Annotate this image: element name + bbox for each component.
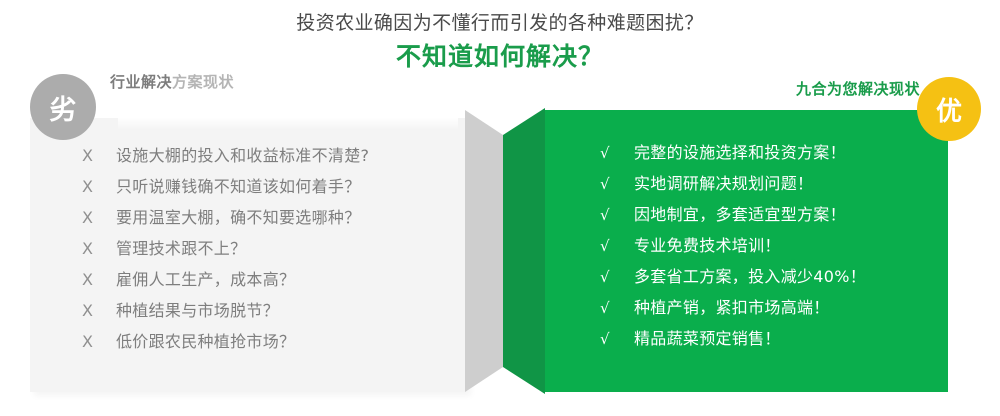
check-icon: √ (600, 175, 634, 193)
badge-inferior: 劣 (30, 74, 96, 140)
cross-icon: X (82, 239, 116, 258)
headline-question: 投资农业确因为不懂行而引发的各种难题困扰？ (0, 0, 1000, 37)
list-item-label: 管理技术跟不上？ (116, 235, 246, 259)
list-item-label: 只听说赚钱确不知道该如何着手？ (116, 173, 361, 197)
cross-icon: X (82, 332, 116, 351)
check-icon: √ (600, 268, 634, 286)
list-item: X要用温室大棚，确不知要选哪种？ (82, 204, 462, 235)
check-icon: √ (600, 237, 634, 255)
headline-emphasis: 不知道如何解决？ (0, 37, 1000, 74)
list-item: √实地调研解决规划问题！ (600, 170, 950, 201)
list-item-label: 种植产销，紧扣市场高端！ (634, 294, 830, 318)
solutions-heading: 九合为您解决现状 (796, 78, 920, 99)
cross-icon: X (82, 208, 116, 227)
check-icon: √ (600, 299, 634, 317)
list-item: X设施大棚的投入和收益标准不清楚? (82, 142, 462, 173)
list-item-label: 完整的设施选择和投资方案！ (634, 139, 846, 163)
list-item-label: 要用温室大棚，确不知要选哪种？ (116, 204, 361, 228)
list-item: √多套省工方案，投入减少40%！ (600, 263, 950, 294)
list-item: √完整的设施选择和投资方案！ (600, 139, 950, 170)
problems-list: X设施大棚的投入和收益标准不清楚?X只听说赚钱确不知道该如何着手？X要用温室大棚… (82, 142, 462, 359)
list-item: √因地制宜，多套适宜型方案！ (600, 201, 950, 232)
check-icon: √ (600, 206, 634, 224)
list-item-label: 多套省工方案，投入减少40%！ (634, 263, 866, 287)
list-item: √专业免费技术培训！ (600, 232, 950, 263)
cross-icon: X (82, 270, 116, 289)
badge-superior: 优 (917, 77, 981, 141)
cross-icon: X (82, 301, 116, 320)
list-item-label: 因地制宜，多套适宜型方案！ (634, 201, 846, 225)
list-item-label: 雇佣人工生产，成本高？ (116, 266, 295, 290)
list-item-label: 低价跟农民种植抢市场？ (116, 328, 295, 352)
list-item-label: 种植结果与市场脱节？ (116, 297, 279, 321)
list-item-label: 精品蔬菜预定销售！ (634, 325, 781, 349)
check-icon: √ (600, 144, 634, 162)
cross-icon: X (82, 146, 116, 165)
panel-highlight-strip (118, 118, 458, 130)
list-item: X只听说赚钱确不知道该如何着手？ (82, 173, 462, 204)
problems-heading-light: 方案现状 (172, 73, 234, 91)
check-icon: √ (600, 330, 634, 348)
comparison-infographic: 投资农业确因为不懂行而引发的各种难题困扰？ 不知道如何解决？ 劣 优 行业解决方… (0, 0, 1000, 416)
list-item-label: 设施大棚的投入和收益标准不清楚? (116, 142, 369, 166)
cross-icon: X (82, 177, 116, 196)
fold-arrow-icon (465, 105, 555, 397)
list-item: X管理技术跟不上？ (82, 235, 462, 266)
list-item-label: 实地调研解决规划问题！ (634, 170, 813, 194)
badge-inferior-label: 劣 (50, 88, 77, 127)
list-item: X低价跟农民种植抢市场？ (82, 328, 462, 359)
list-item: √精品蔬菜预定销售！ (600, 325, 950, 356)
problems-heading: 行业解决方案现状 (110, 71, 234, 92)
list-item: √种植产销，紧扣市场高端！ (600, 294, 950, 325)
list-item: X雇佣人工生产，成本高？ (82, 266, 462, 297)
solutions-list: √完整的设施选择和投资方案！√实地调研解决规划问题！√因地制宜，多套适宜型方案！… (600, 139, 950, 356)
badge-superior-label: 优 (936, 91, 962, 128)
problems-heading-strong: 行业解决 (110, 73, 172, 91)
list-item: X种植结果与市场脱节？ (82, 297, 462, 328)
headline-block: 投资农业确因为不懂行而引发的各种难题困扰？ 不知道如何解决？ (0, 0, 1000, 74)
list-item-label: 专业免费技术培训！ (634, 232, 781, 256)
fold-arrow-connector (465, 105, 555, 397)
